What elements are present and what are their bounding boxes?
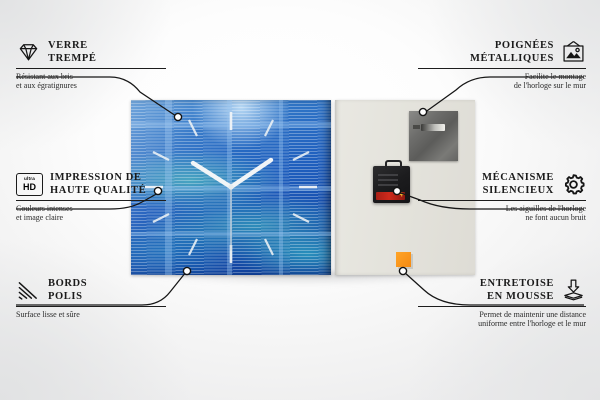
callout-desc-line1: Surface lisse et sûre [16,310,166,320]
callout-title: MÉCANISME SILENCIEUX [482,172,554,197]
callout-verre-trempe: VERRE TREMPÉ Résistant aux bris et aux é… [16,40,166,91]
callout-desc-line2: et image claire [16,213,166,223]
callout-desc-line1: Résistant aux bris [16,72,166,82]
callout-entretoise-en-mousse: ENTRETOISE EN MOUSSE Permet de maintenir… [418,278,586,329]
callout-divider [418,68,586,69]
callout-header: POIGNÉES MÉTALLIQUES [418,40,586,65]
callout-desc-line2: ne font aucun bruit [418,213,586,223]
mechanism-hook-tab [385,160,402,169]
clock-hour-hand [193,163,231,187]
callout-header: MÉCANISME SILENCIEUX [418,172,586,197]
mechanism-surface-detail [378,172,398,186]
polished-edge-lines-icon [16,278,41,303]
callout-mecanisme-silencieux: MÉCANISME SILENCIEUX Les aiguilles de l'… [418,172,586,223]
callout-desc-line1: Permet de maintenir une distance [418,310,586,320]
clock-center-cap [228,184,233,189]
arrow-down-onto-layers-icon [561,278,586,303]
callout-title: POIGNÉES MÉTALLIQUES [470,40,554,65]
clock-minute-hand [231,160,271,187]
battery [376,192,405,200]
callout-bords-polis: BORDS POLIS Surface lisse et sûre [16,278,166,319]
callout-title: BORDS POLIS [48,278,87,303]
ultra-hd-icon: ultra HD [16,173,43,196]
callout-title: IMPRESSION DE HAUTE QUALITÉ [50,172,146,197]
callout-divider [418,306,586,307]
picture-frame-hanger-icon [561,40,586,65]
diamond-icon [16,40,41,65]
callout-divider [418,200,586,201]
clock-mechanism-box [373,166,410,203]
callout-desc-line2: de l'horloge sur le mur [418,81,586,91]
callout-header: VERRE TREMPÉ [16,40,166,65]
callout-header: BORDS POLIS [16,278,166,303]
callout-title: VERRE TREMPÉ [48,40,97,65]
foam-spacer-pad [396,252,411,267]
callout-poignees-metalliques: POIGNÉES MÉTALLIQUES Facilite le montage… [418,40,586,91]
infographic-canvas: VERRE TREMPÉ Résistant aux bris et aux é… [0,0,600,400]
ultra-hd-icon-large-text: HD [23,183,36,192]
callout-header: ultra HD IMPRESSION DE HAUTE QUALITÉ [16,172,166,197]
callout-desc-line2: uniforme entre l'horloge et le mur [418,319,586,329]
gear-icon [561,172,586,197]
metal-hanger-plate [409,111,458,161]
callout-desc-line1: Couleurs intenses [16,204,166,214]
callout-desc-line1: Facilite le montage [418,72,586,82]
callout-title: ENTRETOISE EN MOUSSE [480,278,554,303]
callout-desc-line1: Les aiguilles de l'horloge [418,204,586,214]
hanger-keyhole-slot [421,124,445,131]
callout-desc-line2: et aux égratignures [16,81,166,91]
callout-impression-haute-qualite: ultra HD IMPRESSION DE HAUTE QUALITÉ Cou… [16,172,166,223]
callout-divider [16,200,166,201]
callout-divider [16,68,166,69]
callout-header: ENTRETOISE EN MOUSSE [418,278,586,303]
callout-divider [16,306,166,307]
